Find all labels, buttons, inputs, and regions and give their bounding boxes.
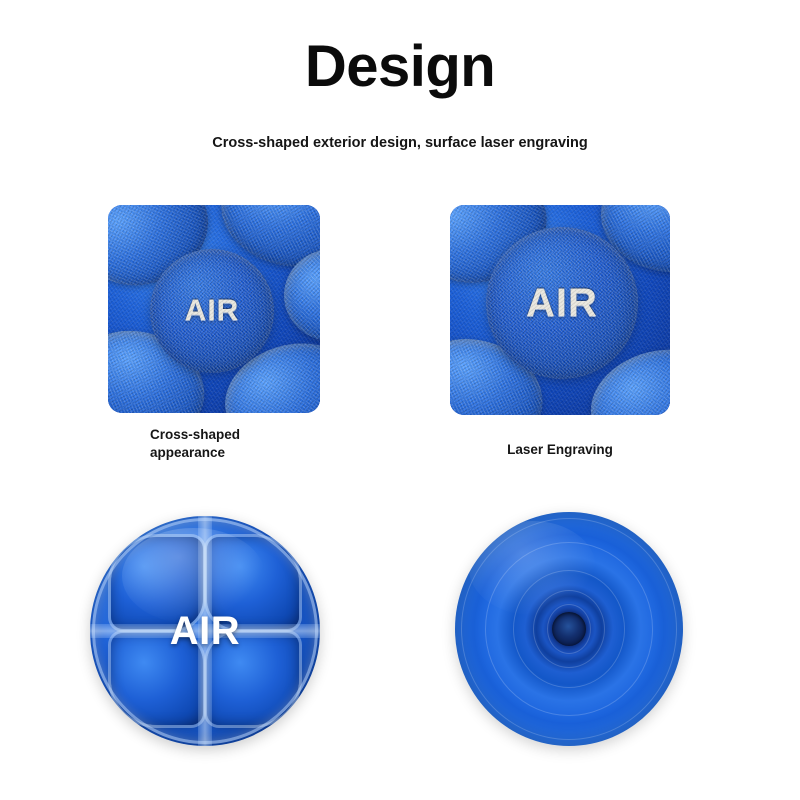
product-image-cross-shaped-macro[interactable]: AIR: [108, 205, 320, 413]
caption-cross-shaped-appearance: Cross-shaped appearance: [150, 426, 330, 462]
engraved-air-disc: AIR: [486, 227, 638, 379]
caption-laser-engraving: Laser Engraving: [450, 441, 670, 459]
air-engraving-label: AIR: [90, 609, 320, 654]
air-engraving-label: AIR: [185, 294, 240, 328]
air-engraving-label: AIR: [526, 281, 598, 326]
product-image-laser-engraving-macro[interactable]: AIR: [450, 205, 670, 415]
engraved-air-disc: AIR: [150, 249, 274, 373]
product-image-cap-top-view[interactable]: AIR: [90, 516, 320, 746]
page-subtitle: Cross-shaped exterior design, surface la…: [0, 133, 800, 153]
cap-center-hole: [552, 612, 586, 646]
product-image-cap-bottom-view[interactable]: [455, 512, 683, 746]
page-title: Design: [0, 34, 800, 100]
